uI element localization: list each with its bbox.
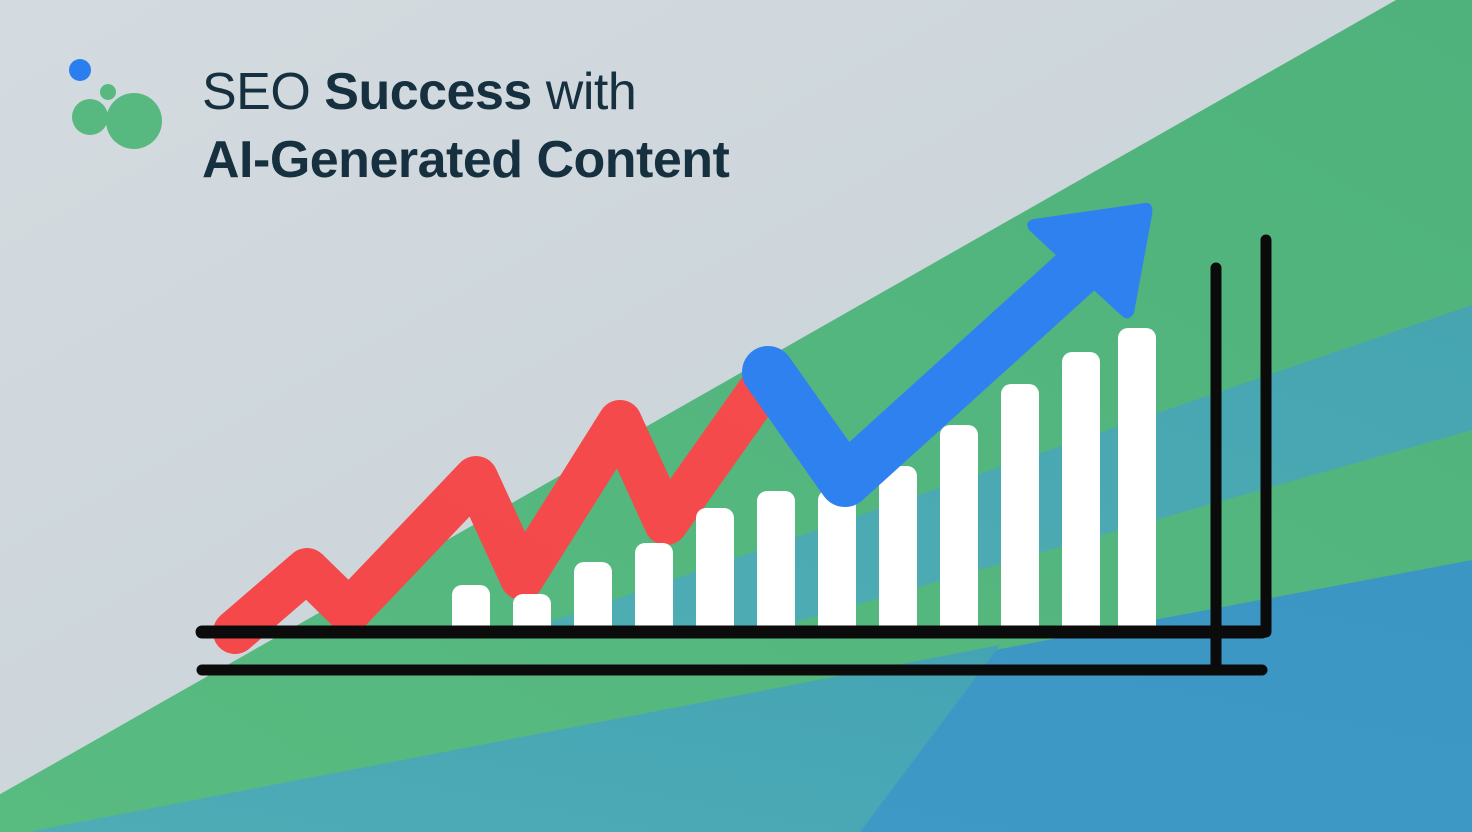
header: SEO Success with AI-Generated Content <box>0 0 1472 220</box>
bar-7 <box>818 490 856 638</box>
red-trend-line <box>235 376 770 632</box>
title-line-2: AI-Generated Content <box>202 134 729 186</box>
illustration-canvas: SEO Success with AI-Generated Content <box>0 0 1472 832</box>
bar-9 <box>940 425 978 638</box>
logo-dot-green-mid-icon <box>72 99 108 135</box>
bar-12 <box>1118 328 1156 638</box>
bar-4 <box>635 543 673 638</box>
page-title: SEO Success with AI-Generated Content <box>202 66 729 186</box>
bar-10 <box>1001 384 1039 638</box>
title-part-success: Success <box>324 63 532 121</box>
series-declining-volatile-trendline <box>235 376 770 632</box>
bar-5 <box>696 508 734 638</box>
logo-dot-green-large-icon <box>106 93 162 149</box>
title-part-with: with <box>532 63 636 121</box>
brand-dots-logo <box>58 52 176 162</box>
title-part-seo: SEO <box>202 63 324 121</box>
bar-6 <box>757 491 795 638</box>
title-line-1: SEO Success with <box>202 66 729 118</box>
logo-dot-blue-icon <box>69 59 91 81</box>
blue-arrow-shaft <box>768 243 1108 481</box>
bar-11 <box>1062 352 1100 638</box>
bar-8 <box>879 466 917 638</box>
logo-dot-green-small-icon <box>100 84 116 100</box>
